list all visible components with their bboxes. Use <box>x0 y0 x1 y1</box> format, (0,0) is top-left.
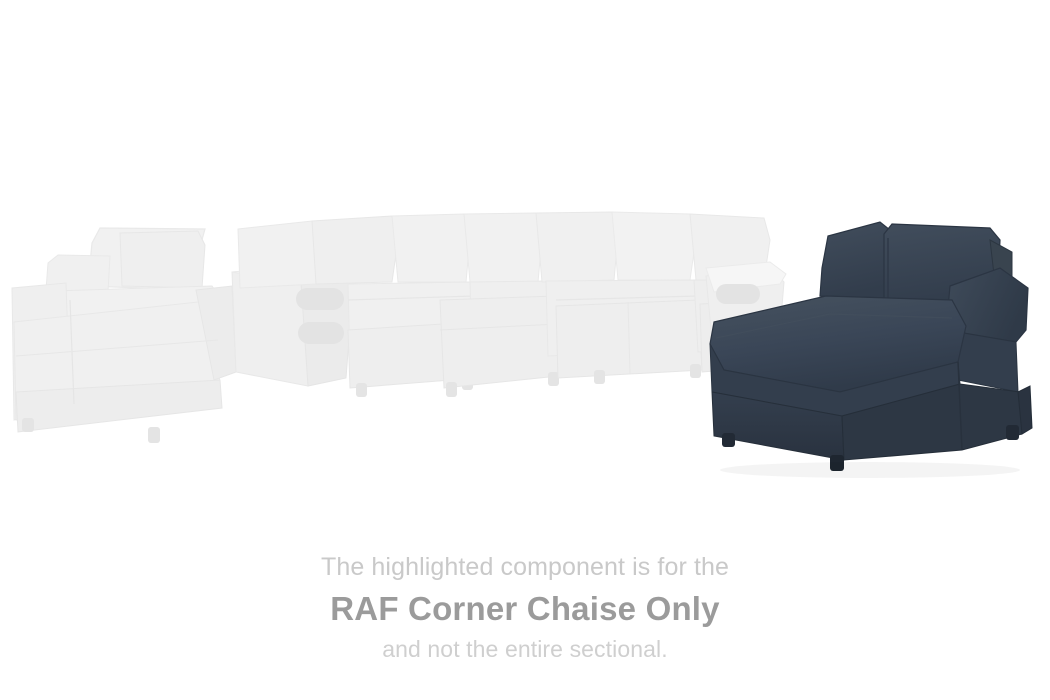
caption-line-intro: The highlighted component is for the <box>0 548 1050 586</box>
ghost-piece-armless-right-1 <box>536 212 702 384</box>
ghost-piece-laf-loveseat <box>12 228 236 443</box>
caption-line-disclaimer: and not the entire sectional. <box>0 632 1050 666</box>
sectional-illustration <box>0 0 1050 520</box>
ghosted-sectional-group <box>12 212 786 443</box>
ghost-cupholders-right <box>716 284 760 304</box>
caption-block: The highlighted component is for the RAF… <box>0 548 1050 666</box>
product-image-canvas: The highlighted component is for the RAF… <box>0 0 1050 700</box>
caption-component-name: RAF Corner Chaise Only <box>0 586 1050 632</box>
